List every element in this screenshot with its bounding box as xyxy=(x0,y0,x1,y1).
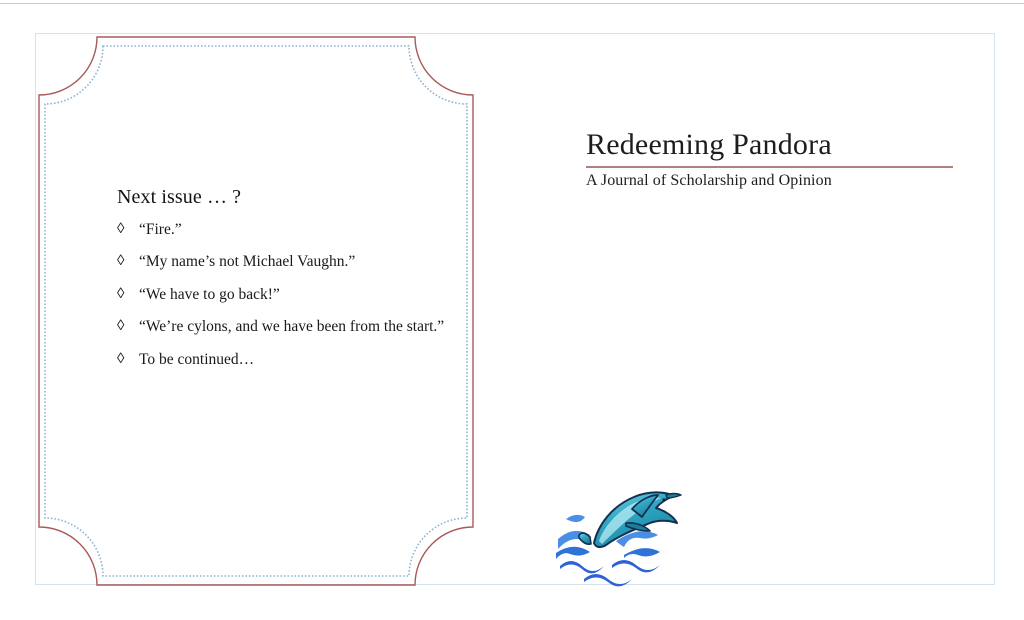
list-item: ◊ “We’re cylons, and we have been from t… xyxy=(117,317,447,337)
list-item-label: “Fire.” xyxy=(139,220,447,240)
splash-left-lower xyxy=(556,547,590,559)
right-page-panel: Redeeming Pandora A Journal of Scholarsh… xyxy=(586,33,986,589)
journal-masthead: Redeeming Pandora A Journal of Scholarsh… xyxy=(586,128,953,191)
dolphin-rostrum xyxy=(666,494,681,499)
lozenge-bullet-icon: ◊ xyxy=(117,285,139,305)
splash-right-lower xyxy=(624,548,660,558)
next-issue-list: ◊ “Fire.” ◊ “My name’s not Michael Vaugh… xyxy=(117,220,447,370)
dolphin-icon xyxy=(554,473,694,588)
wave-line-2 xyxy=(612,560,660,572)
wave-line-3 xyxy=(584,574,632,586)
wave-line-1 xyxy=(560,561,604,573)
lozenge-bullet-icon: ◊ xyxy=(117,317,139,337)
dolphin-clipart xyxy=(554,473,694,588)
splash-droplet xyxy=(566,515,585,522)
list-item: ◊ “Fire.” xyxy=(117,220,447,240)
list-item-label: “We have to go back!” xyxy=(139,285,447,305)
lozenge-bullet-icon: ◊ xyxy=(117,220,139,240)
lozenge-bullet-icon: ◊ xyxy=(117,350,139,370)
list-item: ◊ “My name’s not Michael Vaughn.” xyxy=(117,252,447,272)
list-item-label: To be continued… xyxy=(139,350,447,370)
dolphin-eye xyxy=(662,498,665,501)
list-item: ◊ To be continued… xyxy=(117,350,447,370)
next-issue-block: Next issue … ? ◊ “Fire.” ◊ “My name’s no… xyxy=(117,185,447,382)
list-item-label: “We’re cylons, and we have been from the… xyxy=(139,317,447,337)
list-item-label: “My name’s not Michael Vaughn.” xyxy=(139,252,447,272)
masthead-divider xyxy=(586,166,953,168)
next-issue-heading: Next issue … ? xyxy=(117,185,447,210)
list-item: ◊ “We have to go back!” xyxy=(117,285,447,305)
journal-title: Redeeming Pandora xyxy=(586,128,953,161)
capture-top-rule xyxy=(0,3,1024,4)
left-page-panel: Next issue … ? ◊ “Fire.” ◊ “My name’s no… xyxy=(35,33,485,589)
lozenge-bullet-icon: ◊ xyxy=(117,252,139,272)
journal-subtitle: A Journal of Scholarship and Opinion xyxy=(586,171,953,191)
